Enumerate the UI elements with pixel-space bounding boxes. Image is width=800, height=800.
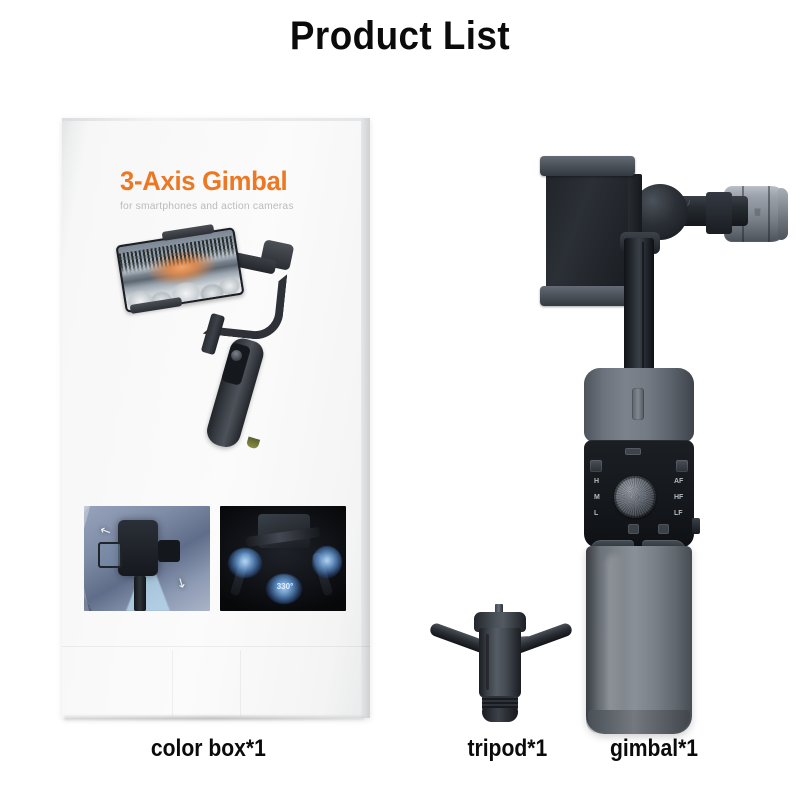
box-photo-right: 330° [220, 506, 346, 611]
handle-grip-highlight [606, 554, 622, 722]
handle-grip-shadow [586, 546, 600, 734]
box-fold-crease [62, 646, 370, 647]
panel-button-right[interactable] [676, 460, 688, 472]
color-box-product: 3-Axis Gimbal for smartphones and action… [62, 118, 370, 718]
phone-clamp-plate [546, 166, 628, 292]
caption-color-box: color box*1 [151, 735, 266, 763]
photo-left-motor [158, 540, 180, 562]
caption-tripod: tripod*1 [467, 735, 547, 763]
hero-handle-tip [246, 437, 260, 450]
rotation-glow-icon [228, 548, 262, 578]
phone-clamp-jaw-top [540, 156, 635, 176]
panel-label-af: AF [674, 478, 683, 485]
box-headline: 3-Axis Gimbal [120, 166, 287, 197]
gimbal-product: H M L AF HF LF ⏻ MODE [528, 150, 790, 730]
photo-video-toggle-icon[interactable] [658, 524, 669, 534]
tripod-column-groove [486, 634, 489, 690]
gimbal-tilt-arm [624, 238, 654, 378]
box-lid-edge [62, 118, 370, 121]
charging-port [692, 518, 700, 534]
gimbal-joystick[interactable] [614, 476, 656, 518]
caption-gimbal: gimbal*1 [610, 735, 698, 763]
box-bottom-shadow [64, 716, 364, 720]
panel-label-l: L [594, 510, 598, 517]
rotation-angle-label: 330° [272, 582, 298, 591]
pan-motor-ring [768, 186, 770, 242]
box-subline: for smartphones and action cameras [120, 200, 294, 212]
tripod-base-foot [482, 708, 518, 722]
pan-motor-detail [754, 208, 761, 217]
photo-left-handle [134, 576, 146, 611]
pan-motor-end-cap [778, 188, 788, 240]
box-panel-crease-left [172, 650, 173, 716]
box-photo-left: ↖ ↘ [84, 506, 210, 611]
handle-release-tab[interactable] [632, 388, 644, 420]
gimbal-handle-grip [586, 546, 692, 734]
panel-label-m: M [594, 494, 600, 501]
photo-left-phone-clamp [98, 542, 122, 568]
battery-led-indicator [625, 448, 641, 455]
photo-left-gimbal-body [118, 520, 158, 576]
panel-label-lf: LF [674, 510, 683, 517]
panel-label-hf: HF [674, 494, 683, 501]
phone-clamp-jaw-bottom [540, 286, 635, 306]
box-hero-photo [110, 226, 325, 476]
page-title: Product List [32, 14, 768, 59]
panel-label-h: H [594, 478, 599, 485]
panel-button-left[interactable] [590, 460, 602, 472]
pan-arm-joint-block [706, 192, 732, 234]
handle-grip-base [588, 710, 690, 734]
camera-shutter-icon[interactable] [628, 524, 639, 534]
box-panel-crease-right [240, 650, 241, 716]
box-side-panel [361, 118, 370, 718]
tilt-arm-seam [642, 242, 644, 374]
rotation-glow-icon [312, 546, 342, 578]
